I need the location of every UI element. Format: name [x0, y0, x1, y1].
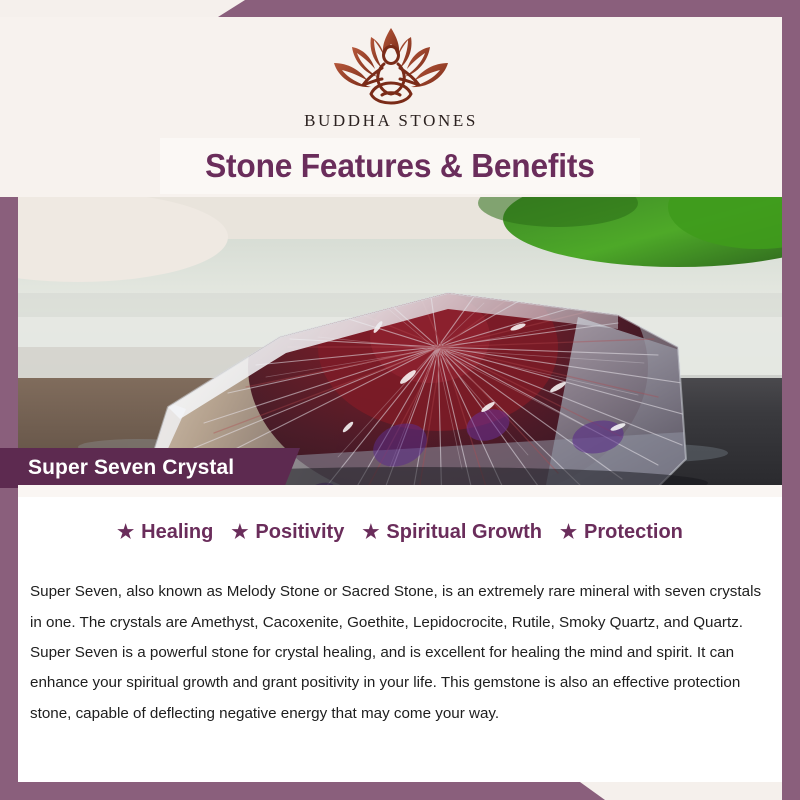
benefit-label: Protection [584, 521, 683, 544]
benefit-item-positivity: ★ Positivity [227, 521, 348, 544]
benefit-label: Positivity [255, 521, 344, 544]
benefit-label: Healing [141, 521, 213, 544]
benefits-list: ★ Healing ★ Positivity ★ Spiritual Growt… [18, 521, 782, 544]
benefit-item-spiritual-growth: ★ Spiritual Growth [358, 521, 546, 544]
star-icon: ★ [231, 523, 248, 542]
frame-bottom-band [0, 782, 605, 800]
benefit-item-healing: ★ Healing [113, 521, 217, 544]
star-icon: ★ [117, 523, 134, 542]
super-seven-crystal-photo [18, 197, 782, 485]
frame-left-band [0, 197, 18, 800]
description-text: Super Seven, also known as Melody Stone … [30, 577, 770, 729]
poster-root: BUDDHA STONES Stone Features & Benefits [0, 0, 800, 800]
page-title: Stone Features & Benefits [205, 147, 595, 185]
star-icon: ★ [560, 523, 577, 542]
benefit-item-protection: ★ Protection [556, 521, 687, 544]
brand-logo: BUDDHA STONES [296, 23, 486, 131]
lotus-meditation-icon [316, 23, 466, 109]
benefit-label: Spiritual Growth [386, 521, 542, 544]
frame-top-band [218, 0, 800, 17]
header-section: BUDDHA STONES Stone Features & Benefits [0, 17, 782, 197]
title-banner: Stone Features & Benefits [160, 138, 640, 194]
brand-name: BUDDHA STONES [304, 111, 478, 131]
star-icon: ★ [362, 523, 379, 542]
description-panel: ★ Healing ★ Positivity ★ Spiritual Growt… [18, 485, 782, 782]
frame-right-band [782, 0, 800, 800]
stone-name-ribbon: Super Seven Crystal [0, 448, 300, 488]
stone-name-label: Super Seven Crystal [28, 456, 234, 480]
